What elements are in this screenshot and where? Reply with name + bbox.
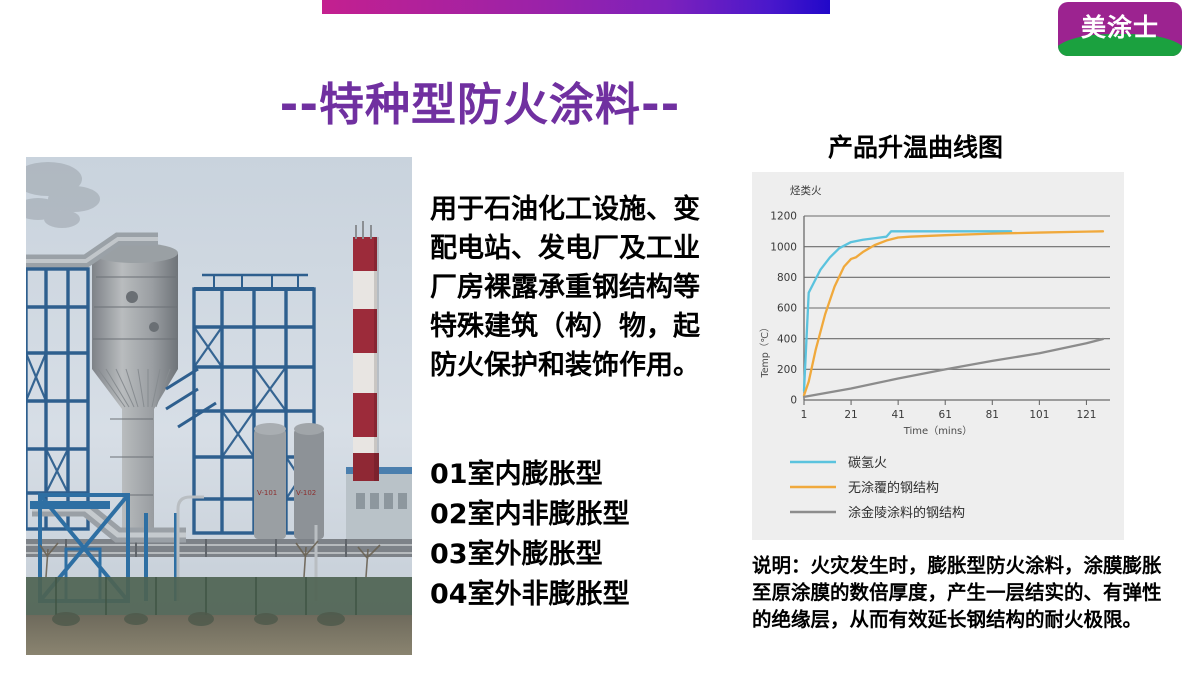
chart-caption: 说明：火灾发生时，膨胀型防火涂料，涂膜膨胀至原涂膜的数倍厚度，产生一层结实的、有… xyxy=(752,552,1172,633)
chart-y-axis-label: Temp（℃） xyxy=(759,323,771,379)
y-tick-label: 600 xyxy=(777,303,797,315)
y-tick-label: 200 xyxy=(777,364,797,376)
y-tick-label: 0 xyxy=(790,395,797,407)
product-type-list: 01室内膨胀型 02室内非膨胀型 03室外膨胀型 04室外非膨胀型 xyxy=(430,455,740,615)
list-item: 02室内非膨胀型 xyxy=(430,495,740,535)
x-tick-label: 61 xyxy=(939,409,952,421)
temperature-curve-chart: 020040060080010001200 121416181101121 烃类… xyxy=(752,172,1124,540)
list-item: 04室外非膨胀型 xyxy=(430,575,740,615)
chart-x-axis-label: Time（mins） xyxy=(903,425,973,437)
y-tick-label: 1200 xyxy=(770,211,797,223)
chart-heading: 产品升温曲线图 xyxy=(828,128,1003,164)
legend-label: 涂金陵涂料的钢结构 xyxy=(848,505,965,521)
logo-brand-text: 美涂士 xyxy=(1058,8,1182,44)
y-tick-label: 800 xyxy=(777,272,797,284)
description-paragraph: 用于石油化工设施、变配电站、发电厂及工业厂房裸露承重钢结构等特殊建筑（构）物，起… xyxy=(430,190,720,385)
y-tick-label: 400 xyxy=(777,333,797,345)
page-title: --特种型防火涂料-- xyxy=(0,68,960,133)
svg-text:V-101: V-101 xyxy=(257,489,277,497)
svg-text:V-102: V-102 xyxy=(296,489,316,497)
x-tick-label: 1 xyxy=(801,409,808,421)
x-tick-label: 121 xyxy=(1076,409,1096,421)
refinery-photo: V-101 V-102 xyxy=(26,157,412,655)
legend-label: 碳氢火 xyxy=(848,456,887,471)
header-accent-bar xyxy=(322,0,830,14)
legend-label: 无涂覆的钢结构 xyxy=(848,480,939,496)
list-item: 01室内膨胀型 xyxy=(430,455,740,495)
chart-inner-title: 烃类火 xyxy=(790,184,822,197)
y-tick-label: 1000 xyxy=(770,241,797,253)
x-tick-label: 81 xyxy=(986,409,999,421)
x-tick-label: 21 xyxy=(844,409,857,421)
x-tick-label: 101 xyxy=(1029,409,1049,421)
brand-logo: 美涂士 xyxy=(1058,2,1182,56)
list-item: 03室外膨胀型 xyxy=(430,535,740,575)
x-tick-label: 41 xyxy=(891,409,904,421)
